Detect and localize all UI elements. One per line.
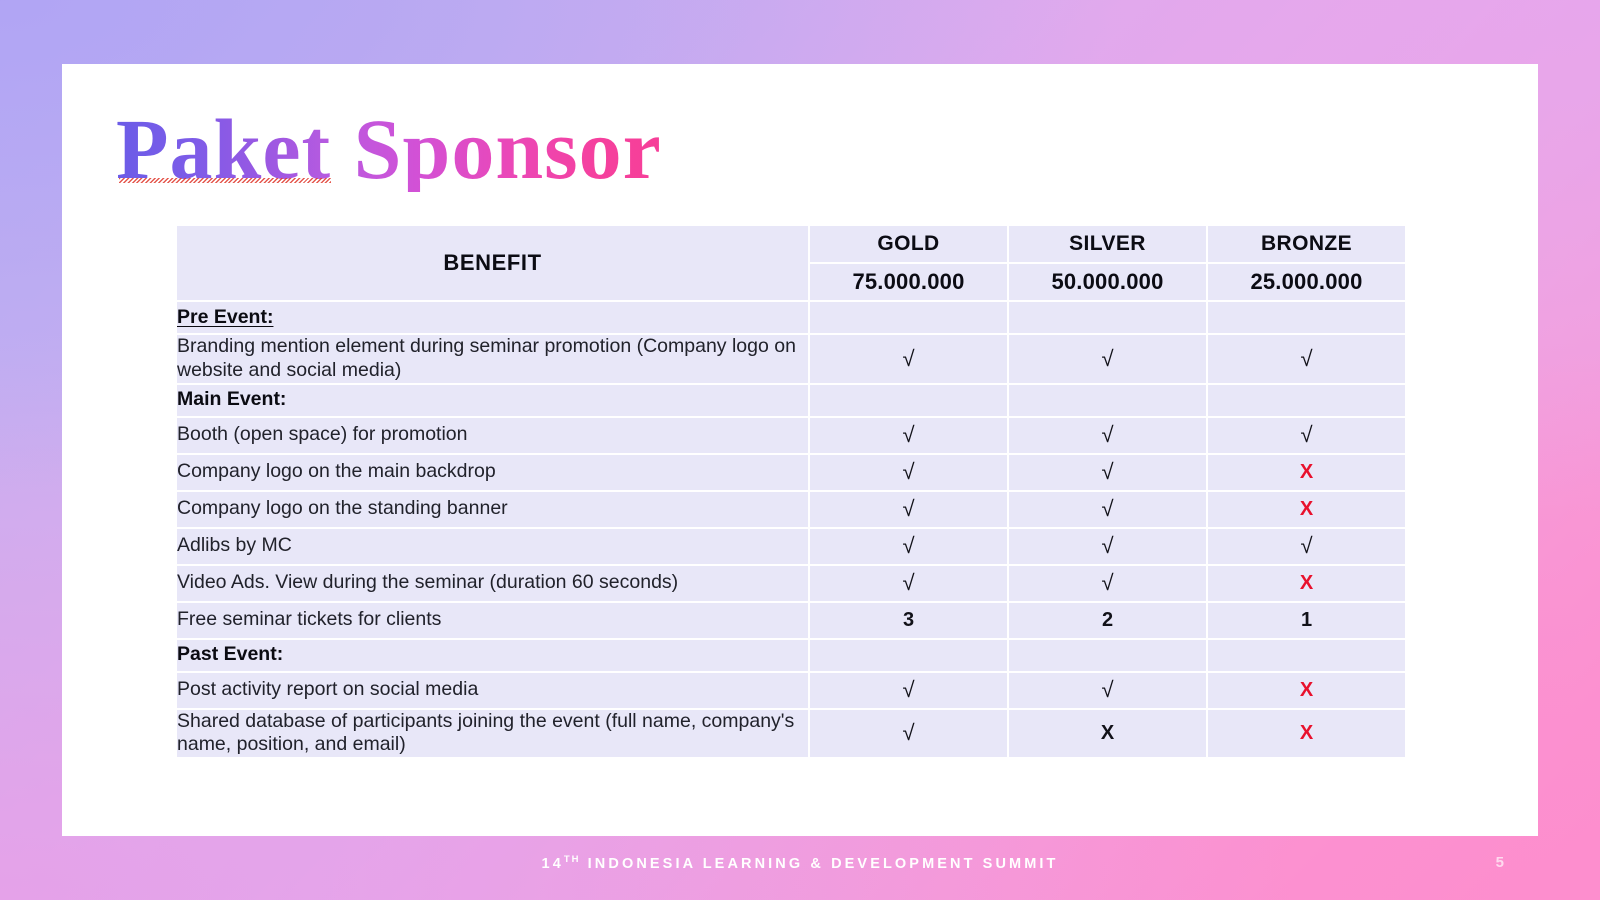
table-header: BENEFIT GOLD SILVER BRONZE 75.000.000 50… — [176, 225, 1406, 301]
cell-silver: 2 — [1008, 602, 1207, 639]
column-header-gold: GOLD — [809, 225, 1008, 263]
cell-text: Post activity report on social media — [177, 678, 478, 700]
benefit-section-label: Past Event: — [176, 639, 809, 672]
cell-bronze: √ — [1207, 417, 1406, 454]
footer-event-title: 14TH INDONESIA LEARNING & DEVELOPMENT SU… — [0, 854, 1600, 872]
table-body: Pre Event:Branding mention element durin… — [176, 301, 1406, 758]
benefit-label: Free seminar tickets for clients — [176, 602, 809, 639]
cell-bronze: X — [1207, 454, 1406, 491]
cell-gold: 3 — [809, 602, 1008, 639]
cell-silver: X — [1008, 709, 1207, 759]
page-number: 5 — [1496, 854, 1504, 871]
cell-text: Pre Event: — [177, 306, 273, 328]
cell-silver: √ — [1008, 672, 1207, 709]
cell-bronze — [1207, 301, 1406, 334]
benefit-label: Video Ads. View during the seminar (dura… — [176, 565, 809, 602]
cell-silver — [1008, 639, 1207, 672]
cell-silver: √ — [1008, 454, 1207, 491]
price-bronze: 25.000.000 — [1207, 263, 1406, 301]
cell-bronze — [1207, 384, 1406, 417]
title-block: Paket Sponsor — [116, 106, 662, 192]
cell-bronze — [1207, 639, 1406, 672]
cell-text: Adlibs by MC — [177, 534, 292, 556]
table-row: Booth (open space) for promotion√√√ — [176, 417, 1406, 454]
cell-gold: √ — [809, 491, 1008, 528]
cell-gold: √ — [809, 454, 1008, 491]
benefit-section-label: Pre Event: — [176, 301, 809, 334]
cell-bronze: X — [1207, 709, 1406, 759]
cell-gold: √ — [809, 565, 1008, 602]
footer-ordinal-suffix: TH — [564, 854, 581, 865]
table-row: Free seminar tickets for clients321 — [176, 602, 1406, 639]
table-row: Past Event: — [176, 639, 1406, 672]
table-row: Shared database of participants joining … — [176, 709, 1406, 759]
price-silver: 50.000.000 — [1008, 263, 1207, 301]
cell-gold: √ — [809, 709, 1008, 759]
table-row: Pre Event: — [176, 301, 1406, 334]
cell-text: Video Ads. View during the seminar (dura… — [177, 571, 678, 593]
column-header-benefit: BENEFIT — [176, 225, 809, 301]
cell-text: Free seminar tickets for clients — [177, 608, 441, 630]
column-header-silver: SILVER — [1008, 225, 1207, 263]
cell-bronze: √ — [1207, 528, 1406, 565]
table-row: Adlibs by MC√√√ — [176, 528, 1406, 565]
cell-text: Shared database of participants joining … — [177, 710, 794, 756]
footer-event-name: INDONESIA LEARNING & DEVELOPMENT SUMMIT — [581, 856, 1059, 872]
cell-gold: √ — [809, 672, 1008, 709]
cell-bronze: X — [1207, 491, 1406, 528]
benefit-label: Branding mention element during seminar … — [176, 334, 809, 384]
cell-text: Main Event: — [177, 388, 286, 410]
cell-text: Past Event: — [177, 643, 283, 665]
table-row: Company logo on the standing banner√√X — [176, 491, 1406, 528]
cell-silver: √ — [1008, 565, 1207, 602]
benefit-label: Booth (open space) for promotion — [176, 417, 809, 454]
benefit-label: Shared database of participants joining … — [176, 709, 809, 759]
spellcheck-squiggle-underline — [119, 178, 331, 183]
cell-gold: √ — [809, 417, 1008, 454]
benefit-label: Post activity report on social media — [176, 672, 809, 709]
cell-text: Booth (open space) for promotion — [177, 423, 468, 445]
cell-text: Company logo on the main backdrop — [177, 460, 496, 482]
benefit-label: Adlibs by MC — [176, 528, 809, 565]
benefit-label: Company logo on the standing banner — [176, 491, 809, 528]
footer-ordinal-number: 14 — [542, 856, 564, 872]
cell-silver: √ — [1008, 491, 1207, 528]
slide-canvas: Paket Sponsor BENEFIT GOLD SILVER BRONZE… — [0, 0, 1600, 900]
table-row: Branding mention element during seminar … — [176, 334, 1406, 384]
cell-bronze: 1 — [1207, 602, 1406, 639]
cell-silver: √ — [1008, 334, 1207, 384]
table-row: Post activity report on social media√√X — [176, 672, 1406, 709]
cell-gold: √ — [809, 334, 1008, 384]
cell-bronze: X — [1207, 565, 1406, 602]
cell-gold — [809, 639, 1008, 672]
cell-text: Branding mention element during seminar … — [177, 335, 796, 381]
table-row: Main Event: — [176, 384, 1406, 417]
cell-silver: √ — [1008, 417, 1207, 454]
table-row: Video Ads. View during the seminar (dura… — [176, 565, 1406, 602]
cell-gold: √ — [809, 528, 1008, 565]
cell-bronze: √ — [1207, 334, 1406, 384]
benefit-section-label: Main Event: — [176, 384, 809, 417]
cell-text: Company logo on the standing banner — [177, 497, 508, 519]
slide-content-card: Paket Sponsor BENEFIT GOLD SILVER BRONZE… — [62, 64, 1538, 836]
benefit-label: Company logo on the main backdrop — [176, 454, 809, 491]
slide-footer: 14TH INDONESIA LEARNING & DEVELOPMENT SU… — [0, 836, 1600, 900]
cell-silver — [1008, 301, 1207, 334]
cell-bronze: X — [1207, 672, 1406, 709]
table-row: Company logo on the main backdrop√√X — [176, 454, 1406, 491]
column-header-bronze: BRONZE — [1207, 225, 1406, 263]
price-gold: 75.000.000 — [809, 263, 1008, 301]
cell-silver: √ — [1008, 528, 1207, 565]
table-header-row-tiers: BENEFIT GOLD SILVER BRONZE — [176, 225, 1406, 263]
sponsorship-package-table: BENEFIT GOLD SILVER BRONZE 75.000.000 50… — [176, 225, 1406, 758]
cell-silver — [1008, 384, 1207, 417]
cell-gold — [809, 384, 1008, 417]
cell-gold — [809, 301, 1008, 334]
